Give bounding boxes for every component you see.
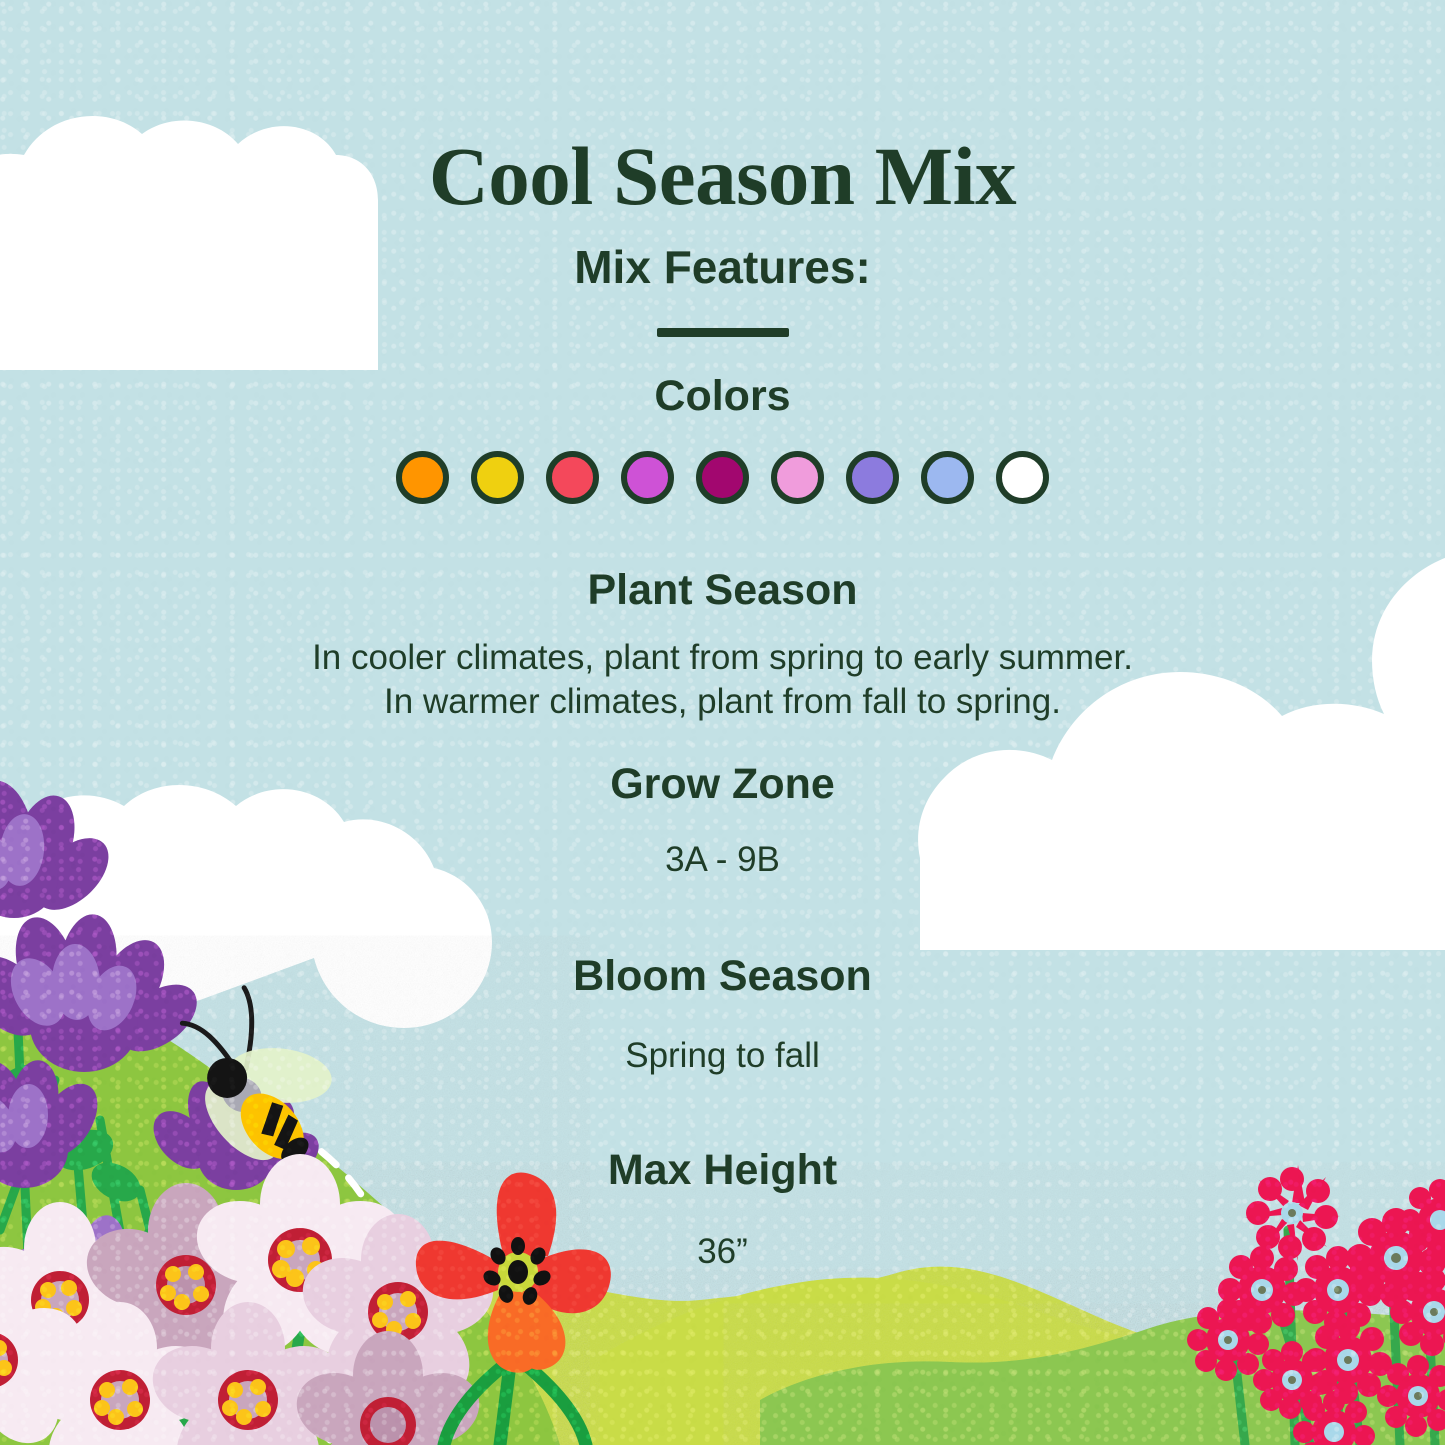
color-swatch-cornflower — [921, 451, 974, 504]
plant-season-line-1: In cooler climates, plant from spring to… — [0, 636, 1445, 680]
color-swatch-deep-magenta — [696, 451, 749, 504]
grow-zone-heading: Grow Zone — [0, 760, 1445, 809]
color-swatch-row — [0, 451, 1445, 504]
plant-season-body: In cooler climates, plant from spring to… — [0, 636, 1445, 724]
illustration-canvas: Cool Season Mix Mix Features: Colors Pla… — [0, 0, 1445, 1445]
color-swatch-orange — [396, 451, 449, 504]
color-swatch-pink — [771, 451, 824, 504]
plant-season-heading: Plant Season — [0, 566, 1445, 615]
bloom-season-heading: Bloom Season — [0, 952, 1445, 1001]
bloom-season-value: Spring to fall — [0, 1034, 1445, 1078]
color-swatch-red — [546, 451, 599, 504]
max-height-value: 36” — [0, 1230, 1445, 1274]
color-swatch-yellow — [471, 451, 524, 504]
section-divider — [657, 328, 789, 337]
page-title: Cool Season Mix — [0, 128, 1445, 224]
color-swatch-white — [996, 451, 1049, 504]
daisy-5 — [1187, 1299, 1269, 1381]
colors-heading: Colors — [0, 372, 1445, 421]
mix-features-subtitle: Mix Features: — [0, 240, 1445, 294]
max-height-heading: Max Height — [0, 1146, 1445, 1195]
color-swatch-purple — [846, 451, 899, 504]
plant-season-line-2: In warmer climates, plant from fall to s… — [0, 680, 1445, 724]
grow-zone-value: 3A - 9B — [0, 838, 1445, 882]
color-swatch-magenta — [621, 451, 674, 504]
